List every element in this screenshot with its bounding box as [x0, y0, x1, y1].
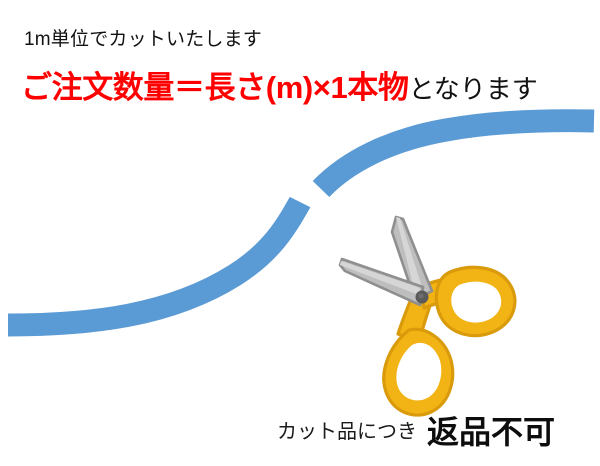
- cut-service-notice-image: 1m単位でカットいたします ご注文数量＝長さ(m)×1本物となります カット品に…: [0, 0, 600, 466]
- footnote-strong: 返品不可: [427, 414, 555, 450]
- blue-cable-right-half: [321, 121, 594, 189]
- footnote-prefix: カット品につき: [277, 421, 417, 443]
- cable-path-left: [8, 197, 303, 325]
- headline-suffix-text: となります: [409, 74, 538, 104]
- headline-line-1: 1m単位でカットいたします: [24, 30, 262, 49]
- blue-cable-left-half: [8, 197, 303, 325]
- cable-path-right: [321, 121, 594, 189]
- headline-emphasis-text: ご注文数量＝長さ(m)×1本物: [21, 70, 409, 105]
- headline-line-2: ご注文数量＝長さ(m)×1本物となります: [21, 70, 538, 107]
- footnote: カット品につき返品不可: [277, 416, 555, 448]
